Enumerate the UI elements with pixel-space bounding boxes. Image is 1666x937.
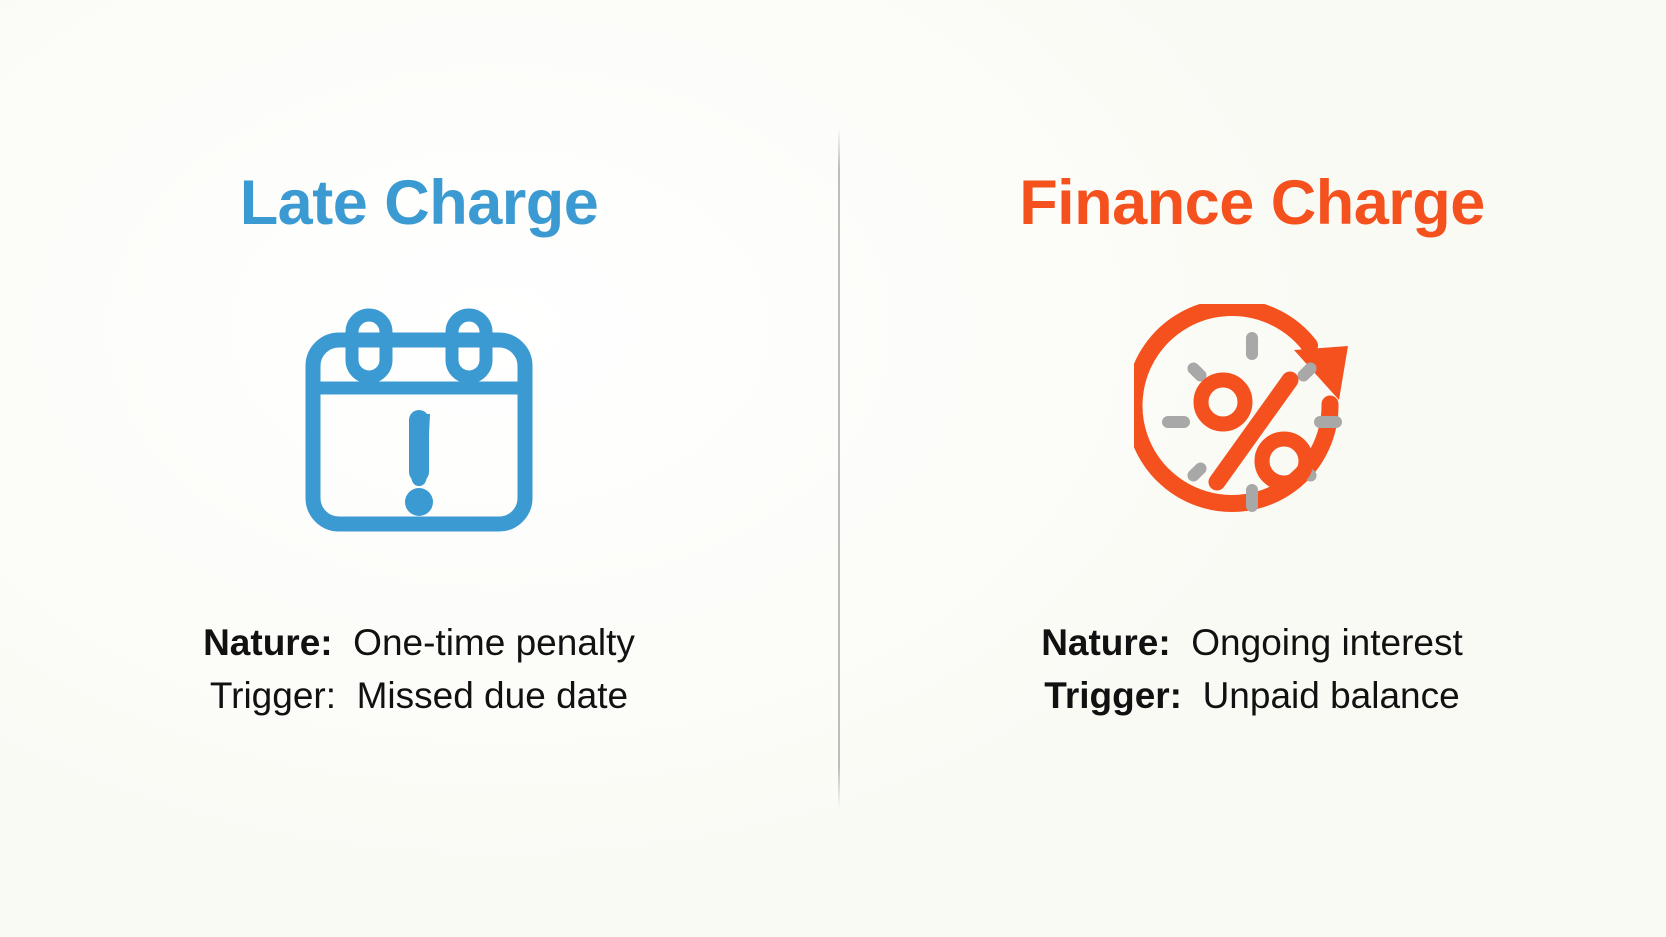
late-charge-title-wrap: Late Charge — [240, 172, 599, 235]
calendar-alert-icon — [289, 297, 549, 547]
late-charge-details: Nature: One-time penalty Trigger: Missed… — [203, 617, 635, 722]
detail-line: Nature: Ongoing interest — [1041, 617, 1463, 670]
detail-line: Nature: One-time penalty — [203, 617, 635, 670]
column-late-charge: Late Charge Nature: One — [0, 0, 838, 937]
detail-line: Trigger: Unpaid balance — [1041, 670, 1463, 723]
detail-line: Trigger: Missed due date — [203, 670, 635, 723]
detail-label: Nature: — [203, 622, 333, 663]
detail-value: One-time penalty — [343, 622, 635, 663]
column-finance-charge: Finance Charge — [838, 0, 1666, 937]
page-title-finance-charge: Finance Charge — [1019, 172, 1485, 235]
finance-charge-title-wrap: Finance Charge — [1019, 172, 1485, 235]
detail-label: Nature: — [1041, 622, 1171, 663]
percent-clock-arrow-icon — [1122, 297, 1382, 547]
detail-value: Unpaid balance — [1192, 675, 1459, 716]
finance-charge-details: Nature: Ongoing interest Trigger: Unpaid… — [1041, 617, 1463, 722]
detail-label: Trigger: — [1044, 675, 1182, 716]
page-title-late-charge: Late Charge — [240, 172, 599, 235]
detail-value: Missed due date — [346, 675, 628, 716]
comparison-slide: Late Charge Nature: One — [0, 0, 1666, 937]
detail-label: Trigger: — [210, 675, 336, 716]
detail-value: Ongoing interest — [1181, 622, 1463, 663]
